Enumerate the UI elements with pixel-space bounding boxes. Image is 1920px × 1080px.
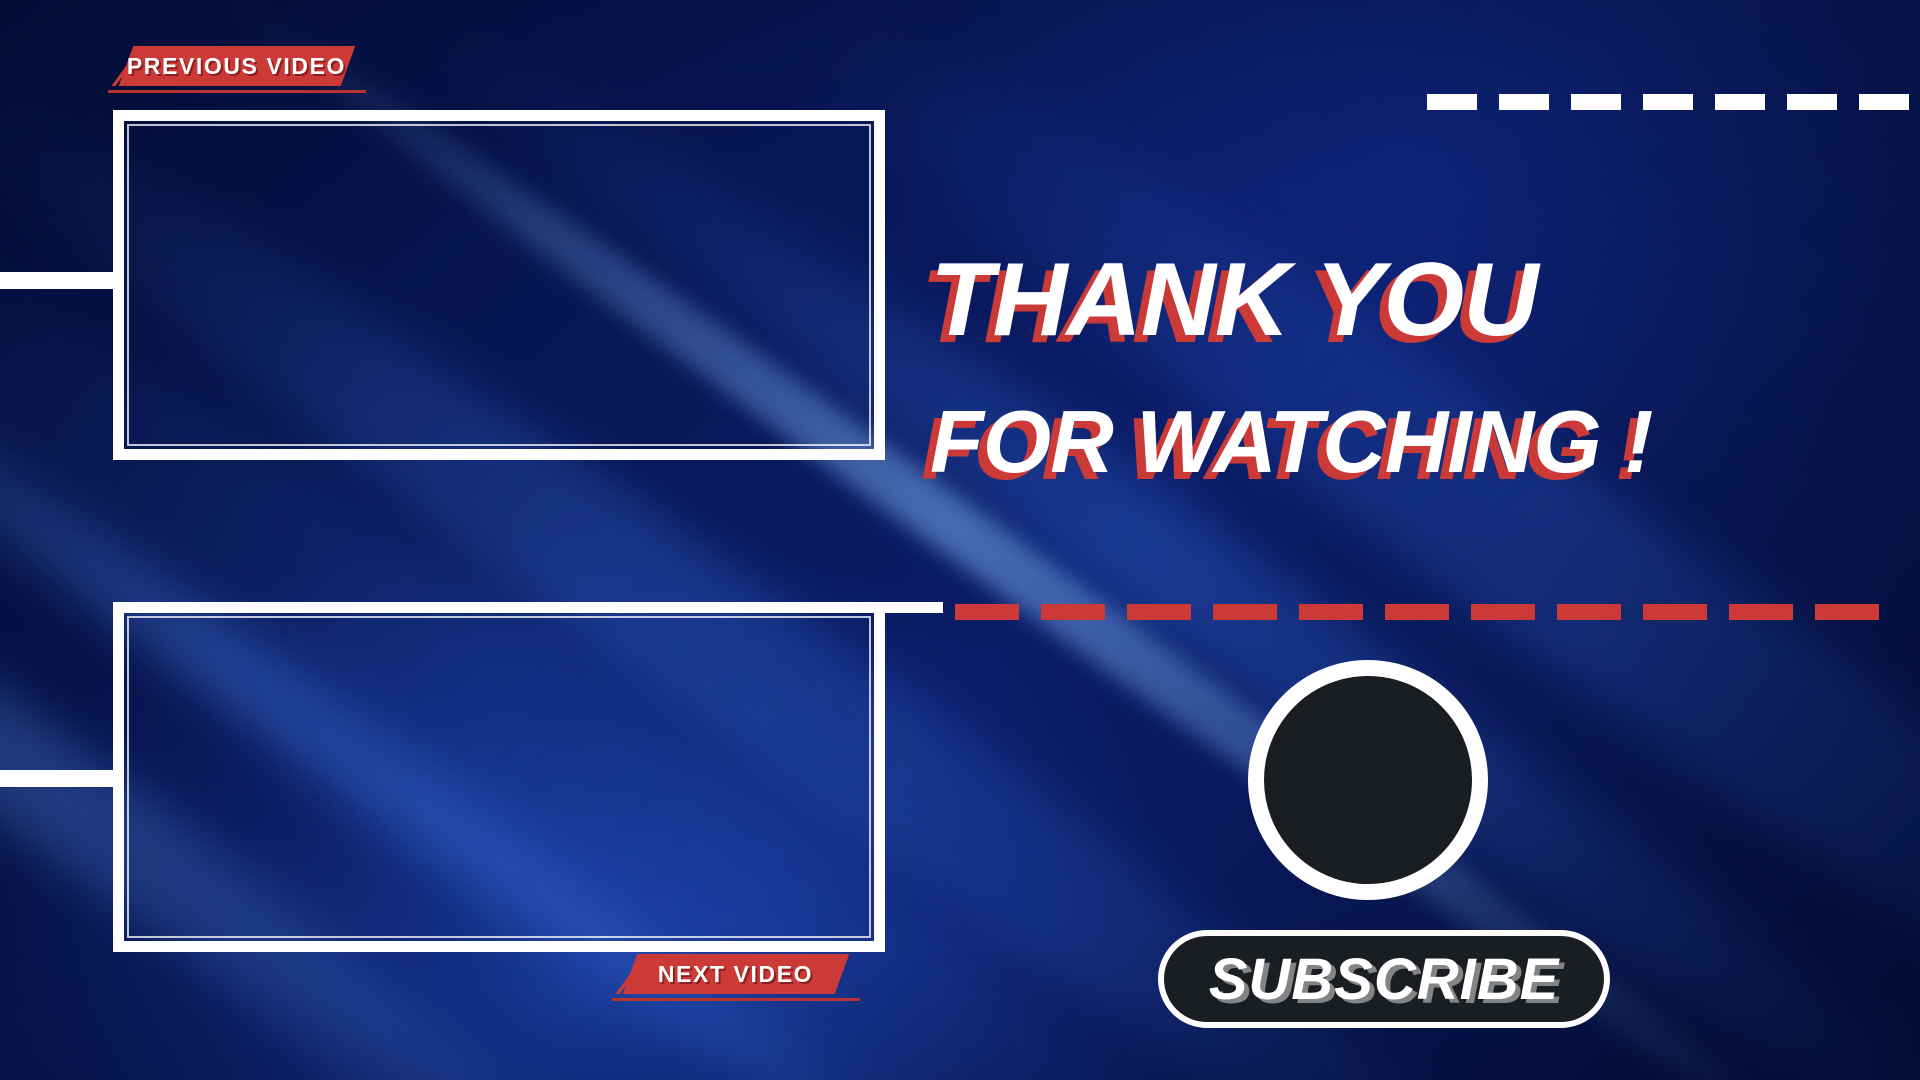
dash-segment-red [1299, 604, 1363, 620]
white-dashed-rule [1427, 94, 1920, 110]
next-frame-top-extension [885, 602, 943, 613]
previous-video-badge-shape[interactable]: PREVIOUS VIDEO [119, 46, 356, 86]
badge-slash-icon [615, 954, 648, 994]
dash-segment-white [1787, 94, 1837, 110]
dash-segment-red [1557, 604, 1621, 620]
previous-video-connector-bar [0, 272, 124, 289]
dash-segment-red [1213, 604, 1277, 620]
dash-segment-white [1715, 94, 1765, 110]
dash-segment-white [1643, 94, 1693, 110]
dash-segment-white [1571, 94, 1621, 110]
dash-segment-white [1859, 94, 1909, 110]
next-video-badge-label: NEXT VIDEO [658, 961, 813, 988]
headline-line-2: FOR WATCHING ! [930, 398, 1870, 486]
next-video-badge-underline [612, 998, 860, 1001]
dash-segment-red [1041, 604, 1105, 620]
previous-video-badge-underline [108, 90, 366, 93]
dash-segment-red [1643, 604, 1707, 620]
subscribe-button-label: SUBSCRIBE [1209, 946, 1560, 1013]
next-video-thumbnail-frame[interactable] [113, 602, 885, 952]
dash-segment-white [1427, 94, 1477, 110]
dash-segment-red [1127, 604, 1191, 620]
subscribe-button[interactable]: SUBSCRIBE [1158, 930, 1610, 1028]
dash-segment-red [955, 604, 1019, 620]
next-video-badge[interactable]: NEXT VIDEO [604, 954, 842, 994]
dash-segment-red [1729, 604, 1793, 620]
dash-segment-red [1385, 604, 1449, 620]
headline-block: THANK YOU FOR WATCHING ! [930, 248, 1870, 486]
channel-avatar[interactable] [1248, 660, 1488, 900]
headline-line-1: THANK YOU [930, 248, 1870, 352]
dash-segment-red [1471, 604, 1535, 620]
previous-video-badge[interactable]: PREVIOUS VIDEO [100, 46, 348, 86]
previous-video-badge-label: PREVIOUS VIDEO [127, 53, 346, 80]
next-video-badge-shape[interactable]: NEXT VIDEO [623, 954, 850, 994]
end-screen-stage: PREVIOUS VIDEO NEXT VIDEO THANK YOU FOR … [0, 0, 1920, 1080]
previous-video-thumbnail-frame[interactable] [113, 110, 885, 460]
next-video-connector-bar [0, 770, 124, 787]
red-dashed-rule [955, 604, 1901, 620]
dash-segment-red [1815, 604, 1879, 620]
dash-segment-white [1499, 94, 1549, 110]
